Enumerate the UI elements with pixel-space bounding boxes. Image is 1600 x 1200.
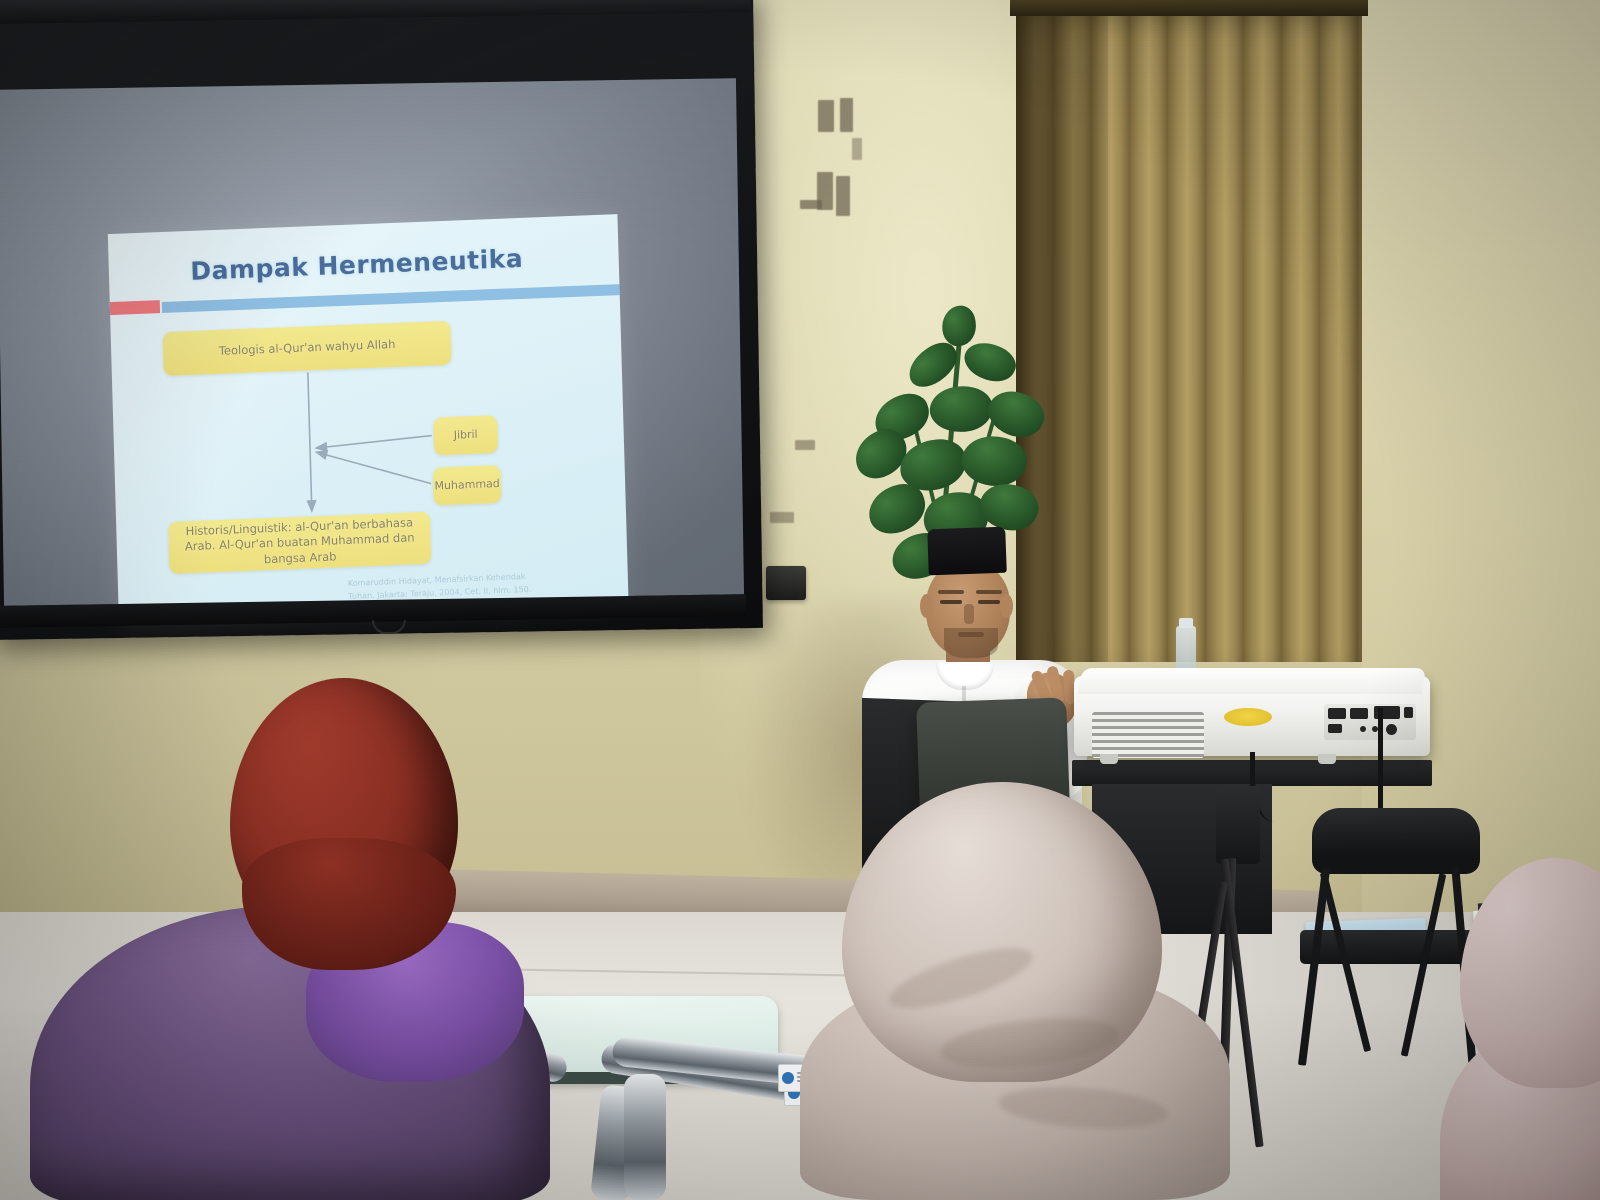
projector-port[interactable] <box>1350 708 1368 719</box>
presenter-mouth <box>958 632 984 637</box>
projector-top-panel <box>1078 668 1427 694</box>
chair-chrome-leg <box>624 1074 666 1200</box>
projector-foot <box>1318 754 1336 764</box>
slide-box-historis: Historis/Linguistik: al-Qur'an berbahasa… <box>168 512 431 574</box>
projector-vent-grille <box>1092 712 1204 758</box>
presenter-ear <box>920 594 933 618</box>
projector-port[interactable] <box>1360 726 1366 732</box>
slide-box-muhammad: Muhammad <box>433 465 502 506</box>
wall-socket[interactable] <box>766 566 806 600</box>
plant-leaf <box>928 383 994 435</box>
presenter-nose <box>964 604 974 624</box>
plant-leaf <box>957 429 1031 493</box>
arrow-teologis-to-historis <box>308 372 312 511</box>
projector-port[interactable] <box>1328 708 1346 719</box>
audience-right-edge <box>1440 858 1600 1200</box>
audience-front-left <box>30 668 550 1200</box>
presenter-eyebrow <box>976 590 1002 594</box>
curtain-rod <box>1010 0 1368 16</box>
projection-screen-surface: Dampak Hermeneutika Teologis al-Qur'an w… <box>0 78 744 606</box>
wall-mark <box>770 512 794 523</box>
presenter-eye <box>940 600 962 604</box>
wall-mark <box>836 176 850 216</box>
slide-box-jibril: Jibril <box>433 415 498 455</box>
presenter-ear <box>1000 594 1013 618</box>
wall-mark <box>818 100 834 132</box>
presenter-eyebrow <box>938 590 964 594</box>
arrow-jibril-to-center <box>316 436 432 449</box>
wall-mark <box>840 98 853 132</box>
wall-mark <box>800 200 822 209</box>
arrow-muhammad-to-center <box>316 448 431 488</box>
projector-foot <box>1100 754 1118 764</box>
wall-mark <box>852 138 862 160</box>
lecture-room-photo: Dampak Hermeneutika Teologis al-Qur'an w… <box>0 0 1600 1200</box>
presenter-peci-cap <box>927 527 1007 576</box>
wall-mark <box>795 440 815 450</box>
projected-slide: Dampak Hermeneutika Teologis al-Qur'an w… <box>108 214 629 624</box>
presenter-eye <box>978 600 1000 604</box>
audience-front-center <box>790 770 1250 1200</box>
audience-hijab <box>1460 858 1600 1088</box>
projector-port[interactable] <box>1328 724 1342 733</box>
projector-lens-indicator <box>1224 708 1272 726</box>
water-bottle-cap <box>1179 618 1193 628</box>
